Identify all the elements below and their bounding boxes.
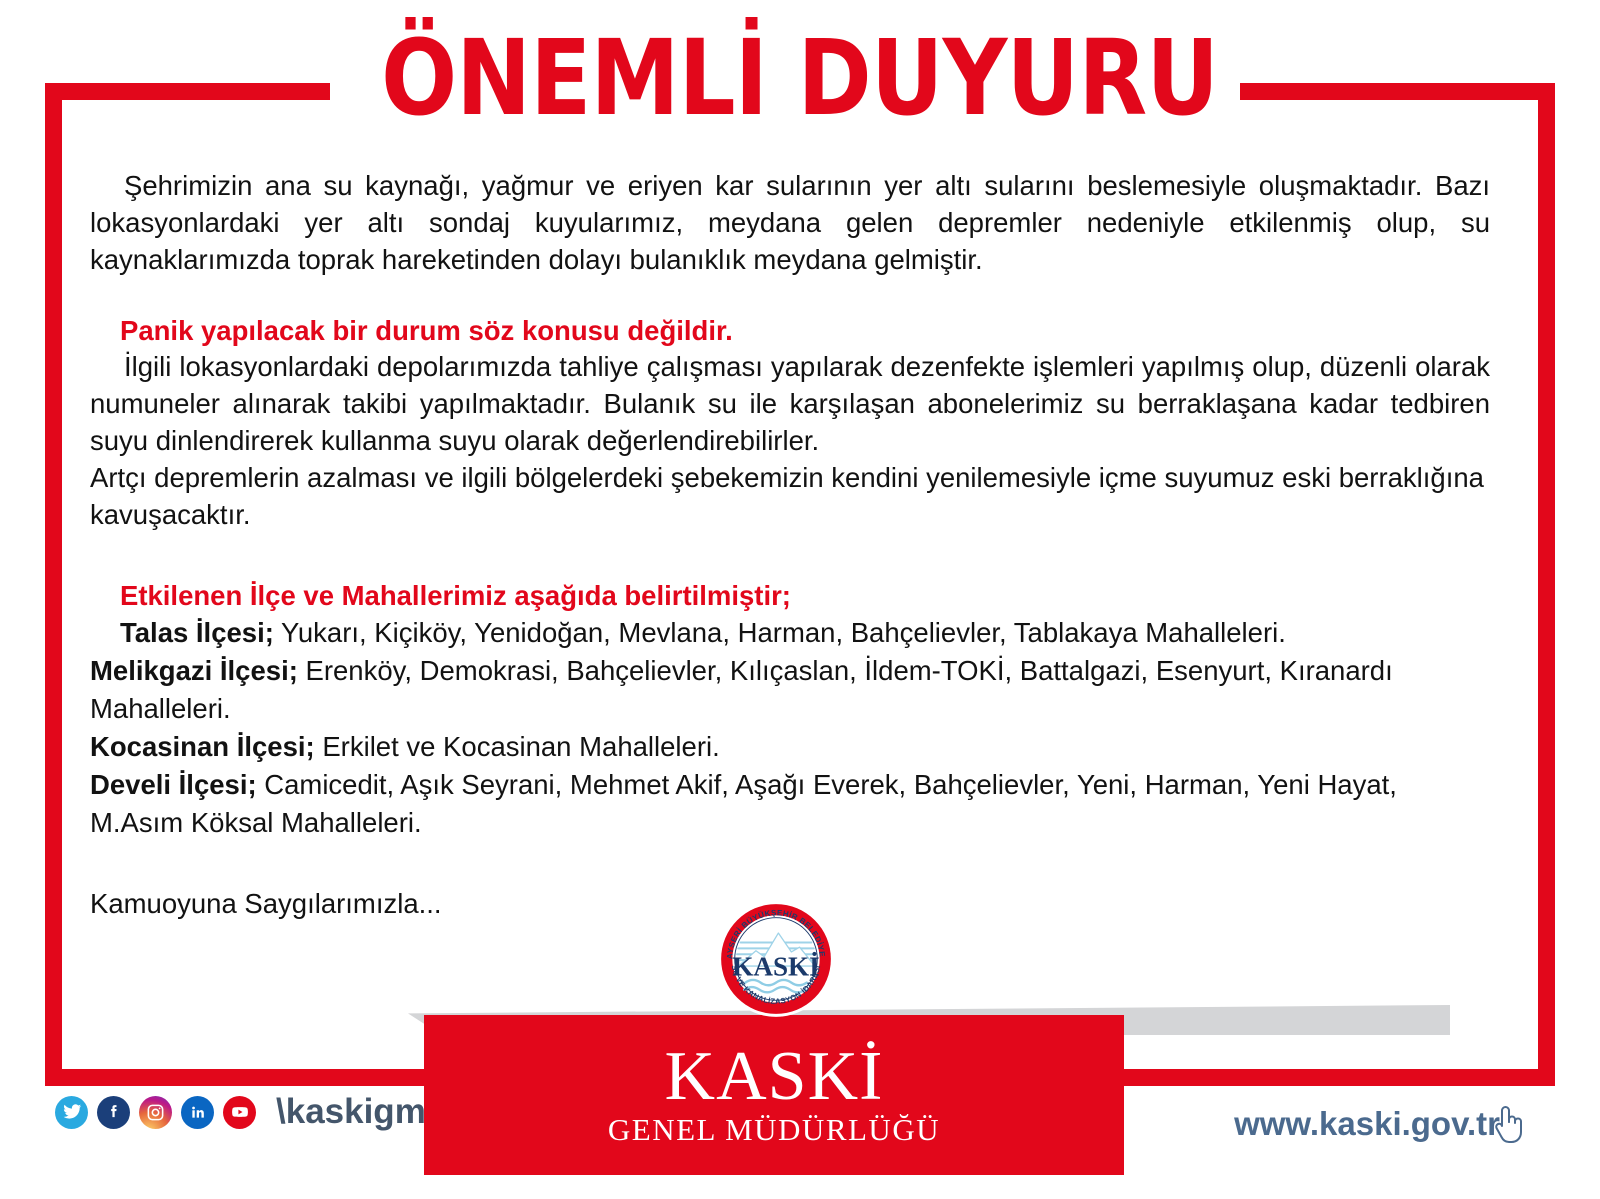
district-neighborhoods: Erkilet ve Kocasinan Mahalleleri. [322,731,719,762]
district-neighborhoods: Camicedit, Aşık Seyrani, Mehmet Akif, Aş… [90,769,1397,838]
red-heading-affected-areas: Etkilenen İlçe ve Mahallerimiz aşağıda b… [90,578,1490,615]
footer-banner: KASKİ GENEL MÜDÜRLÜĞÜ [424,1015,1124,1175]
paragraph-intro-text: Şehrimizin ana su kaynağı, yağmur ve eri… [90,170,1490,275]
instagram-icon[interactable] [139,1096,172,1129]
district-name: Kocasinan İlçesi; [90,731,315,762]
youtube-icon[interactable] [223,1096,256,1129]
linkedin-icon[interactable] [181,1096,214,1129]
district-row-talas: Talas İlçesi; Yukarı, Kiçiköy, Yenidoğan… [90,614,1490,652]
district-name: Melikgazi İlçesi; [90,655,298,686]
website-link[interactable]: www.kaski.gov.tr [1234,1096,1528,1151]
district-name: Talas İlçesi; [120,617,274,648]
banner-brand-name: KASKİ [665,1043,884,1110]
spacer [90,842,1490,886]
paragraph-disinfection: İlgili lokasyonlardaki depolarımızda tah… [90,349,1490,460]
district-row-melikgazi: Melikgazi İlçesi; Erenköy, Demokrasi, Ba… [90,652,1490,728]
paragraph-disinfection-text: İlgili lokasyonlardaki depolarımızda tah… [90,351,1490,456]
paragraph-aftershocks: Artçı depremlerin azalması ve ilgili böl… [90,460,1490,534]
paragraph-intro: Şehrimizin ana su kaynağı, yağmur ve eri… [90,168,1490,279]
announcement-poster: ÖNEMLİ DUYURU Şehrimizin ana su kaynağı,… [0,0,1600,1199]
pointer-hand-icon [1488,1102,1528,1151]
district-row-kocasinan: Kocasinan İlçesi; Erkilet ve Kocasinan M… [90,728,1490,766]
page-title: ÖNEMLİ DUYURU [382,26,1219,130]
banner-brand-subtitle: GENEL MÜDÜRLÜĞÜ [608,1112,940,1148]
twitter-icon[interactable] [55,1096,88,1129]
poster-title-container: ÖNEMLİ DUYURU [0,18,1600,138]
social-media-bar: \kaskigm [55,1092,426,1132]
announcement-body: Şehrimizin ana su kaynağı, yağmur ve eri… [90,168,1490,923]
kaski-seal-logo: KASKİ KAYSERİ BÜYÜKŞEHİR BELEDİYESİ SU V… [717,900,835,1018]
district-name: Develi İlçesi; [90,769,257,800]
social-handle-label: \kaskigm [276,1092,426,1132]
spacer [90,279,1490,313]
facebook-icon[interactable] [97,1096,130,1129]
logo-center-text: KASKİ [732,952,819,982]
district-neighborhoods: Yukarı, Kiçiköy, Yenidoğan, Mevlana, Har… [281,617,1286,648]
district-row-develi: Develi İlçesi; Camicedit, Aşık Seyrani, … [90,766,1490,842]
website-url-label: www.kaski.gov.tr [1234,1105,1500,1143]
spacer [90,534,1490,578]
red-heading-no-panic: Panik yapılacak bir durum söz konusu değ… [90,313,1490,350]
